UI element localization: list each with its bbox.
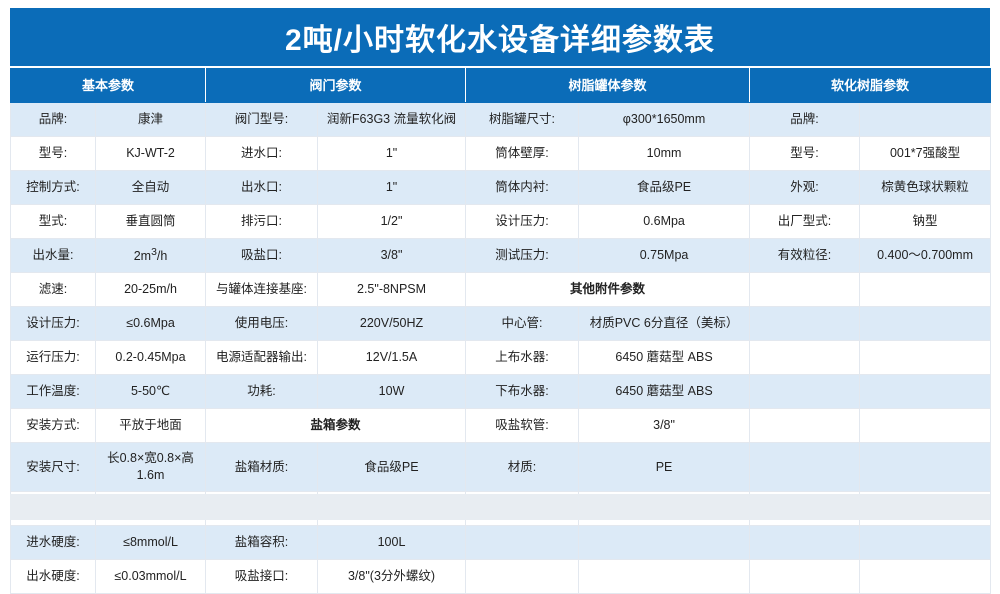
param-value: 棕黄色球状颗粒 (860, 171, 991, 205)
param-label: 外观: (750, 171, 860, 205)
param-value: 0.400～0.700mm (860, 239, 991, 273)
param-value: 001*7强酸型 (860, 137, 991, 171)
table-row: 型号:KJ-WT-2进水口:1"筒体壁厚:10mm型号:001*7强酸型 (11, 137, 991, 171)
empty-cell (750, 526, 860, 560)
param-label: 吸盐接口: (206, 560, 318, 594)
param-label: 进水口: (206, 137, 318, 171)
param-label: 出水口: (206, 171, 318, 205)
group-header-basic: 基本参数 (11, 69, 206, 103)
group-header-valve: 阀门参数 (206, 69, 466, 103)
param-label: 有效粒径: (750, 239, 860, 273)
param-label: 出厂型式: (750, 205, 860, 239)
page-title-bar: 2吨/小时软化水设备详细参数表 (10, 8, 990, 66)
table-row: 出水硬度:≤0.03mmol/L吸盐接口:3/8"(3分外螺纹) (11, 560, 991, 594)
param-label: 中心管: (466, 307, 579, 341)
param-value: ≤0.6Mpa (96, 307, 206, 341)
empty-cell (860, 307, 991, 341)
param-value: 10mm (579, 137, 750, 171)
param-value: 材质PVC 6分直径（美标） (579, 307, 750, 341)
param-value: 食品级PE (318, 443, 466, 492)
param-value: 2m3/h (96, 239, 206, 273)
empty-cell (750, 443, 860, 492)
table-row: 型式:垂直圆筒排污口:1/2"设计压力:0.6Mpa出厂型式:钠型 (11, 205, 991, 239)
param-value: 3/8" (579, 409, 750, 443)
param-label: 出水硬度: (11, 560, 96, 594)
param-value: ≤0.03mmol/L (96, 560, 206, 594)
group-header-softening-resin: 软化树脂参数 (750, 69, 991, 103)
table-row: 工作温度:5-50℃功耗:10W下布水器:6450 蘑菇型 ABS (11, 375, 991, 409)
empty-cell (579, 560, 750, 594)
param-label: 树脂罐尺寸: (466, 103, 579, 137)
param-value: 长0.8×宽0.8×高1.6m (96, 443, 206, 492)
param-value: 润新F63G3 流量软化阀 (318, 103, 466, 137)
empty-cell (860, 560, 991, 594)
param-value: 1" (318, 171, 466, 205)
empty-cell (750, 341, 860, 375)
empty-cell (750, 307, 860, 341)
table-row: 运行压力:0.2-0.45Mpa电源适配器输出:12V/1.5A上布水器:645… (11, 341, 991, 375)
param-label: 盐箱材质: (206, 443, 318, 492)
param-value: 0.2-0.45Mpa (96, 341, 206, 375)
param-label: 出水量: (11, 239, 96, 273)
param-value: 12V/1.5A (318, 341, 466, 375)
empty-cell (750, 560, 860, 594)
table-row: 安装方式:平放于地面盐箱参数吸盐软管:3/8" (11, 409, 991, 443)
section-header-3: 其他附件参数 (466, 273, 750, 307)
param-value: 康津 (96, 103, 206, 137)
param-value: 10W (318, 375, 466, 409)
param-label: 使用电压: (206, 307, 318, 341)
param-label: 品牌: (750, 103, 860, 137)
param-label: 测试压力: (466, 239, 579, 273)
param-label: 安装尺寸: (11, 443, 96, 492)
table-row: 安装尺寸:长0.8×宽0.8×高1.6m盐箱材质:食品级PE材质:PE (11, 443, 991, 492)
param-value: 6450 蘑菇型 ABS (579, 341, 750, 375)
param-label: 滤速: (11, 273, 96, 307)
table-row: 设计压力:≤0.6Mpa使用电压:220V/50HZ中心管:材质PVC 6分直径… (11, 307, 991, 341)
param-label: 进水硬度: (11, 526, 96, 560)
param-label: 品牌: (11, 103, 96, 137)
empty-cell (466, 560, 579, 594)
group-header-resin-tank: 树脂罐体参数 (466, 69, 750, 103)
empty-cell (579, 526, 750, 560)
param-value: 1/2" (318, 205, 466, 239)
section-header-2: 盐箱参数 (206, 409, 466, 443)
param-label: 排污口: (206, 205, 318, 239)
param-value: 钠型 (860, 205, 991, 239)
page-title: 2吨/小时软化水设备详细参数表 (285, 15, 715, 59)
param-value: 1" (318, 137, 466, 171)
empty-cell (466, 526, 579, 560)
param-value: 0.6Mpa (579, 205, 750, 239)
param-label: 安装方式: (11, 409, 96, 443)
param-value: KJ-WT-2 (96, 137, 206, 171)
param-value: PE (579, 443, 750, 492)
empty-cell (750, 375, 860, 409)
param-value: 全自动 (96, 171, 206, 205)
table-row: 滤速:20-25m/h与罐体连接基座:2.5"-8NPSM其他附件参数 (11, 273, 991, 307)
param-label: 设计压力: (466, 205, 579, 239)
empty-cell (860, 103, 991, 137)
empty-cell (860, 409, 991, 443)
param-label: 型式: (11, 205, 96, 239)
param-label: 功耗: (206, 375, 318, 409)
param-label: 型号: (11, 137, 96, 171)
param-value: 2.5"-8NPSM (318, 273, 466, 307)
table-row: 进水硬度:≤8mmol/L盐箱容积:100L (11, 526, 991, 560)
param-value: 100L (318, 526, 466, 560)
param-label: 盐箱容积: (206, 526, 318, 560)
param-value: 6450 蘑菇型 ABS (579, 375, 750, 409)
param-value: 0.75Mpa (579, 239, 750, 273)
param-label: 材质: (466, 443, 579, 492)
param-value: 食品级PE (579, 171, 750, 205)
param-label: 设计压力: (11, 307, 96, 341)
param-label: 工作温度: (11, 375, 96, 409)
param-label: 吸盐口: (206, 239, 318, 273)
empty-cell (860, 341, 991, 375)
param-label: 与罐体连接基座: (206, 273, 318, 307)
param-value: 20-25m/h (96, 273, 206, 307)
param-value: 平放于地面 (96, 409, 206, 443)
table-row: 控制方式:全自动出水口:1"筒体内衬:食品级PE外观:棕黄色球状颗粒 (11, 171, 991, 205)
empty-cell (750, 409, 860, 443)
param-value: 3/8" (318, 239, 466, 273)
empty-cell (860, 526, 991, 560)
param-value: 垂直圆筒 (96, 205, 206, 239)
table-row: 品牌:康津阀门型号:润新F63G3 流量软化阀树脂罐尺寸:φ300*1650mm… (11, 103, 991, 137)
param-label: 阀门型号: (206, 103, 318, 137)
spec-sheet-page: 2吨/小时软化水设备详细参数表 基本参数 阀门参数 树脂罐体参数 软化树脂参数 … (0, 0, 1000, 529)
footer-strip (10, 494, 990, 520)
param-value: ≤8mmol/L (96, 526, 206, 560)
empty-cell (860, 375, 991, 409)
table-row: 出水量:2m3/h吸盐口:3/8"测试压力:0.75Mpa有效粒径:0.400～… (11, 239, 991, 273)
empty-cell (750, 273, 860, 307)
param-value: φ300*1650mm (579, 103, 750, 137)
param-label: 控制方式: (11, 171, 96, 205)
param-value: 5-50℃ (96, 375, 206, 409)
param-label: 筒体内衬: (466, 171, 579, 205)
param-value: 3/8"(3分外螺纹) (318, 560, 466, 594)
param-label: 电源适配器输出: (206, 341, 318, 375)
param-label: 吸盐软管: (466, 409, 579, 443)
param-label: 筒体壁厚: (466, 137, 579, 171)
group-header-row: 基本参数 阀门参数 树脂罐体参数 软化树脂参数 (11, 69, 991, 103)
empty-cell (860, 443, 991, 492)
param-label: 下布水器: (466, 375, 579, 409)
param-label: 型号: (750, 137, 860, 171)
param-label: 运行压力: (11, 341, 96, 375)
empty-cell (860, 273, 991, 307)
param-label: 上布水器: (466, 341, 579, 375)
param-value: 220V/50HZ (318, 307, 466, 341)
